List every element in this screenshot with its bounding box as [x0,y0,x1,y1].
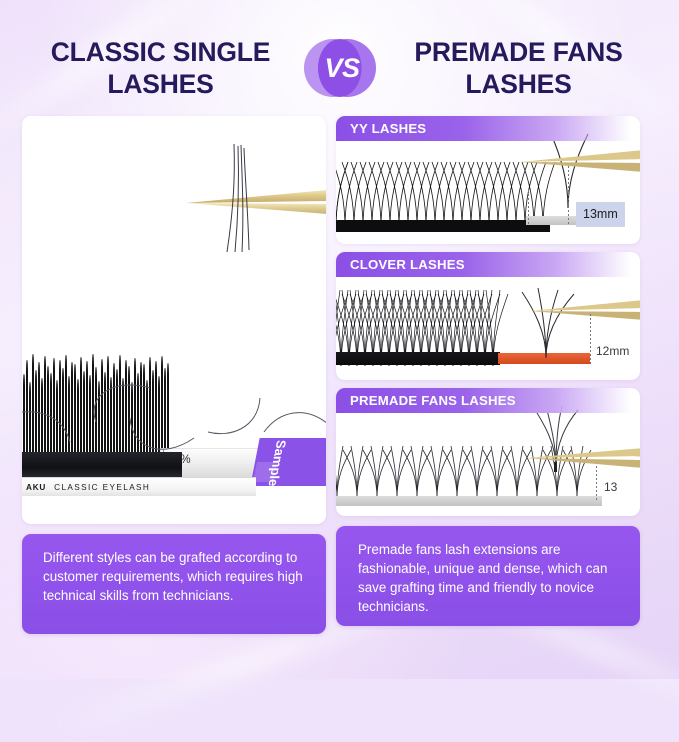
loose-lash-4 [208,398,270,438]
premade-fans-caption: Premade fans lash extensions are fashion… [336,526,640,626]
clover-single-fan [522,288,594,360]
left-panel-title: CLASSIC SINGLE LASHES [22,36,304,101]
sample-tag: Sample, T [250,438,326,486]
yy-measure-label: 13mm [576,202,625,227]
loose-lash-1 [22,406,82,446]
vs-label: VS [324,53,359,84]
premade-fans-title: PREMADE FANS LASHES [336,388,640,413]
loose-lash-5 [264,404,326,440]
yy-measure-line-right [568,166,569,224]
comparison-header: CLASSIC SINGLE LASHES VS PREMADE FANS LA… [0,28,679,108]
tray-brand-line: CLASSIC EYELASH [54,483,150,492]
single-lash-bundle [214,144,264,254]
classic-lashes-caption: Different styles can be grafted accordin… [22,534,326,634]
premade-fans-lashes-panel: YY LASHES [336,116,640,634]
premade-tweezer-icon [526,446,640,470]
clover-black-band [336,352,500,365]
classic-lashes-image-card: 25% Sample, T AKU CLASSIC EYELASH [22,116,326,524]
classic-single-lashes-panel: 25% Sample, T AKU CLASSIC EYELASH [22,116,326,634]
tray-brand-name: AKU [26,483,46,492]
premade-fans-card: PREMADE FANS LASHES [336,388,640,516]
yy-measure-line-left [528,190,529,224]
yy-tweezer-icon [520,150,640,174]
premade-fans-base-strip [336,496,602,506]
tray-brand-label: AKU CLASSIC EYELASH [22,477,256,496]
clover-measure-label: 12mm [596,344,629,358]
classic-lashes-artwork: 25% Sample, T AKU CLASSIC EYELASH [22,116,326,524]
premade-measure-label: 13 [604,480,617,494]
clover-measure-line [590,314,591,364]
yy-lashes-card: YY LASHES [336,116,640,244]
vs-badge: VS [304,37,376,99]
clover-tweezer-icon [530,300,640,322]
clover-lashes-card: CLOVER LASHES [336,252,640,380]
premade-measure-line [596,466,597,502]
right-panel-title: PREMADE FANS LASHES [376,36,658,101]
loose-lash-3 [128,416,200,460]
clover-lashes-title: CLOVER LASHES [336,252,640,277]
yy-lashes-title: YY LASHES [336,116,640,141]
